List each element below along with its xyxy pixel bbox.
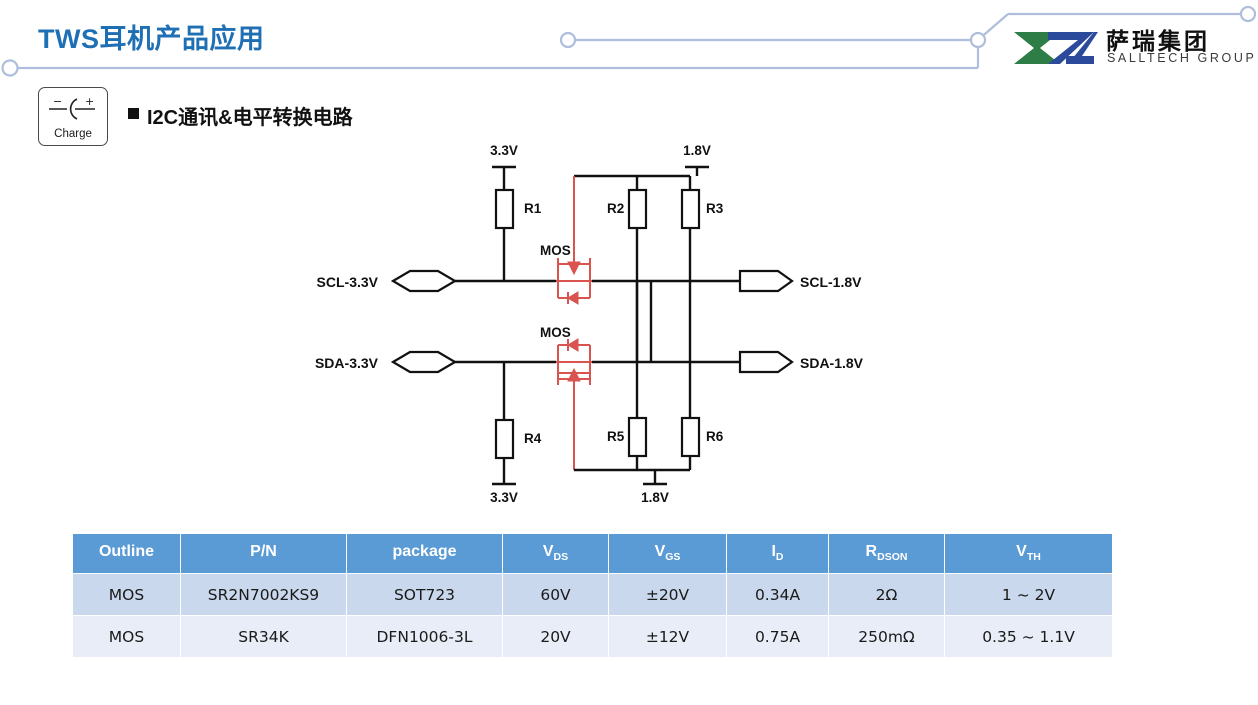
table-header-vds: VDS xyxy=(503,534,609,574)
port-label-sda-18: SDA-1.8V xyxy=(800,355,864,371)
mosfet-symbol-top xyxy=(556,176,592,304)
port-shape-scl-33 xyxy=(393,271,455,291)
table-header-package: package xyxy=(347,534,503,574)
resistor-r5-body xyxy=(629,418,646,456)
cell-vds: 20V xyxy=(503,616,609,658)
cell-rdson: 250mΩ xyxy=(829,616,945,658)
resistor-r6-body xyxy=(682,418,699,456)
table-row: MOS SR34K DFN1006-3L 20V ±12V 0.75A 250m… xyxy=(73,616,1113,658)
header-text: V xyxy=(543,543,554,560)
header-text: Outline xyxy=(99,543,154,560)
header-text: package xyxy=(392,543,456,560)
resistor-r4-body xyxy=(496,420,513,458)
cell-vth: 0.35 ~ 1.1V xyxy=(945,616,1113,658)
cell-pn: SR2N7002KS9 xyxy=(181,574,347,616)
port-shape-sda-18 xyxy=(740,352,792,372)
header-text: R xyxy=(866,543,878,560)
resistor-r2-body xyxy=(629,190,646,228)
cell-pn: SR34K xyxy=(181,616,347,658)
rail-label-bottom-left: 3.3V xyxy=(490,490,518,505)
cell-vds: 60V xyxy=(503,574,609,616)
port-label-scl-33: SCL-3.3V xyxy=(317,274,379,290)
header-text: P/N xyxy=(250,543,277,560)
resistor-r3-body xyxy=(682,190,699,228)
table-header-outline: Outline xyxy=(73,534,181,574)
cell-outline: MOS xyxy=(73,574,181,616)
resistor-r6-label: R6 xyxy=(706,429,724,444)
header-sub: D xyxy=(776,552,784,564)
mos-label-bottom: MOS xyxy=(540,325,571,340)
cell-vgs: ±20V xyxy=(609,574,727,616)
table-header-row: Outline P/N package VDS VGS ID RDSON VTH xyxy=(73,534,1113,574)
header-sub: GS xyxy=(665,552,680,564)
cell-vgs: ±12V xyxy=(609,616,727,658)
rail-label-bottom-right: 1.8V xyxy=(641,490,669,505)
resistor-r3-label: R3 xyxy=(706,201,724,216)
header-sub: DSON xyxy=(877,552,907,564)
cell-outline: MOS xyxy=(73,616,181,658)
table-header-id: ID xyxy=(727,534,829,574)
resistor-r5-label: R5 xyxy=(607,429,625,444)
rail-label-top-left: 3.3V xyxy=(490,143,518,158)
rail-label-top-right: 1.8V xyxy=(683,143,711,158)
cell-package: SOT723 xyxy=(347,574,503,616)
header-sub: TH xyxy=(1027,552,1041,564)
resistor-r2-label: R2 xyxy=(607,201,624,216)
slide-root: TWS耳机产品应用 萨瑞集团 SALLTECH GROUP − + Charge… xyxy=(0,0,1258,705)
resistor-r1-body xyxy=(496,190,513,228)
cell-package: DFN1006-3L xyxy=(347,616,503,658)
port-label-scl-18: SCL-1.8V xyxy=(800,274,862,290)
spec-table: Outline P/N package VDS VGS ID RDSON VTH… xyxy=(72,533,1113,658)
resistor-r1-label: R1 xyxy=(524,201,542,216)
table-header-vth: VTH xyxy=(945,534,1113,574)
port-shape-sda-33 xyxy=(393,352,455,372)
cell-rdson: 2Ω xyxy=(829,574,945,616)
table-header-vgs: VGS xyxy=(609,534,727,574)
header-text: V xyxy=(1016,543,1027,560)
circuit-schematic: 3.3V R1 1.8V R2 R3 SCL-3.3V SCL-1.8V MOS xyxy=(0,0,1258,520)
port-shape-scl-18 xyxy=(740,271,792,291)
cell-vth: 1 ~ 2V xyxy=(945,574,1113,616)
port-label-sda-33: SDA-3.3V xyxy=(315,355,379,371)
cell-id: 0.75A xyxy=(727,616,829,658)
header-sub: DS xyxy=(554,552,569,564)
table-row: MOS SR2N7002KS9 SOT723 60V ±20V 0.34A 2Ω… xyxy=(73,574,1113,616)
mos-label-top: MOS xyxy=(540,243,571,258)
cell-id: 0.34A xyxy=(727,574,829,616)
resistor-r4-label: R4 xyxy=(524,431,542,446)
header-text: V xyxy=(655,543,666,560)
table-header-pn: P/N xyxy=(181,534,347,574)
table-header-rdson: RDSON xyxy=(829,534,945,574)
mosfet-symbol-bottom xyxy=(556,339,592,470)
